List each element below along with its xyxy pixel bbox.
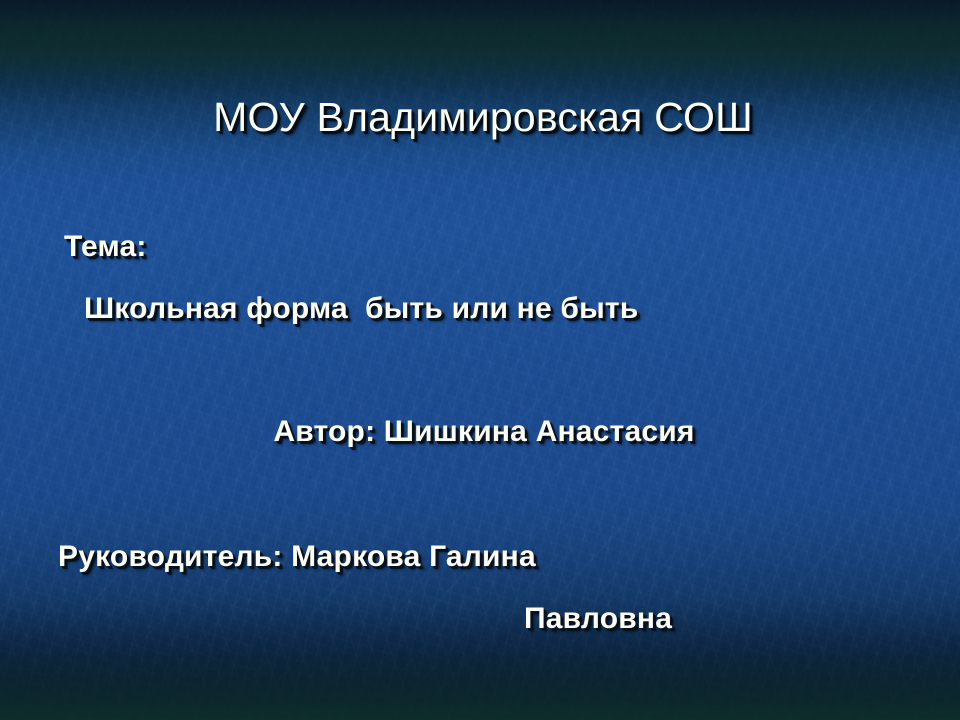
author-line: Автор: Шишкина Анастасия (0, 413, 960, 451)
topic-text: Школьная форма быть или не быть (84, 290, 638, 328)
supervisor-line-2: Павловна (524, 600, 672, 638)
slide-title: МОУ Владимировская СОШ (0, 92, 960, 142)
supervisor-line-1: Руководитель: Маркова Галина (58, 538, 536, 576)
presentation-slide: МОУ Владимировская СОШ Тема: Школьная фо… (0, 0, 960, 720)
topic-label: Тема: (64, 228, 147, 266)
slide-content: МОУ Владимировская СОШ Тема: Школьная фо… (0, 0, 960, 720)
